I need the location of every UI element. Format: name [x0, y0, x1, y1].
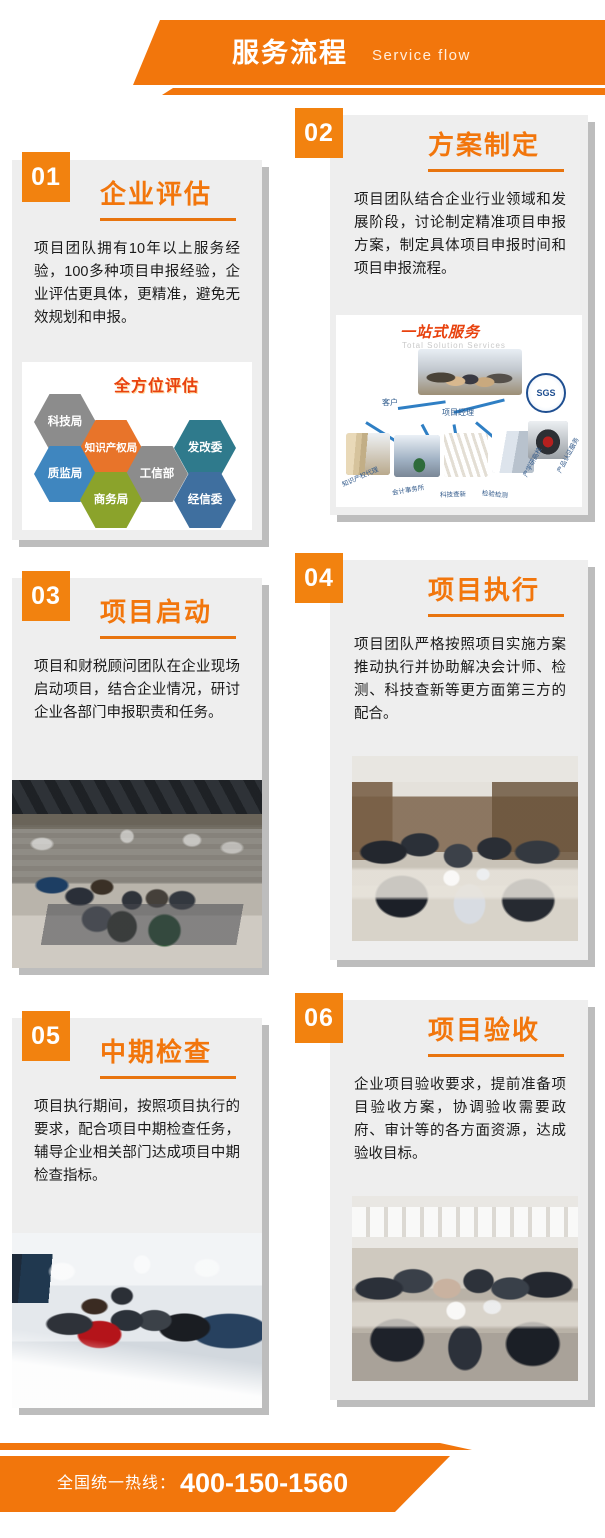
step-body-06: 企业项目验收要求，提前准备项目验收方案，协调验收需要政府、审计等的各方面资源，达… [354, 1074, 566, 1166]
page-title: 服务流程 [232, 34, 348, 72]
title-underline-01 [100, 218, 236, 221]
step-title-03: 项目启动 [100, 596, 212, 628]
title-underline-06 [428, 1054, 564, 1057]
page-subtitle: Service flow [372, 44, 471, 68]
photo-conference-table [352, 756, 578, 941]
step-body-01: 项目团队拥有10年以上服务经验，100多种项目申报经验，企业评估更具体，更精准，… [34, 238, 240, 330]
one-stop-arrow-1 [398, 400, 446, 410]
figure-one-stop-service: 一站式服务 Total Solution Services 客户 项目经理 [336, 315, 582, 507]
step-number-badge-06: 06 [295, 993, 343, 1043]
step-number-badge-05: 05 [22, 1011, 70, 1061]
step-number-badge-04: 04 [295, 553, 343, 603]
one-stop-top-photo [418, 349, 522, 395]
one-stop-certification-seal: SGS [526, 373, 566, 413]
step-card-06: 06 项目验收 企业项目验收要求，提前准备项目验收方案，协调验收需要政府、审计等… [330, 1000, 588, 1400]
step-number-badge-01: 01 [22, 152, 70, 202]
step-body-02: 项目团队结合企业行业领域和发展阶段，讨论制定精准项目申报方案，制定具体项目申报时… [354, 189, 566, 281]
step-title-01: 企业评估 [100, 178, 212, 210]
photo-boardroom [352, 1196, 578, 1381]
header-orange-stripe [0, 88, 605, 95]
step-body-05: 项目执行期间，按照项目执行的要求，配合项目中期检查任务，辅导企业相关部门达成项目… [34, 1096, 240, 1188]
step-card-01: 01 企业评估 项目团队拥有10年以上服务经验，100多种项目申报经验，企业评估… [12, 160, 262, 540]
step-card-03: 03 项目启动 项目和财税顾问团队在企业现场启动项目，结合企业情况，研讨企业各部… [12, 578, 262, 968]
service-flow-infographic: 服务流程 Service flow 01 企业评估 项目团队拥有10年以上服务经… [0, 0, 605, 1538]
one-stop-leg-accounting: 会计事务所 [391, 481, 425, 496]
one-stop-leg-novelty: 科技查新 [440, 488, 466, 499]
page-header: 服务流程 Service flow [0, 0, 605, 100]
photo-meeting-room [12, 780, 262, 968]
step-title-05: 中期检查 [100, 1036, 212, 1068]
title-underline-02 [428, 169, 564, 172]
one-stop-node-customer: 客户 [382, 397, 398, 408]
title-underline-03 [100, 636, 236, 639]
step-number-badge-03: 03 [22, 571, 70, 621]
one-stop-photo-office [394, 435, 440, 477]
one-stop-title: 一站式服务 [400, 321, 480, 342]
step-card-02: 02 方案制定 项目团队结合企业行业领域和发展阶段，讨论制定精准项目申报方案，制… [330, 115, 588, 515]
photo-showroom-visit [12, 1233, 262, 1408]
step-body-03: 项目和财税顾问团队在企业现场启动项目，结合企业情况，研讨企业各部门申报职责和任务… [34, 656, 240, 725]
footer-orange-stripe [0, 1443, 605, 1450]
step-title-04: 项目执行 [428, 574, 540, 606]
one-stop-node-manager: 项目经理 [442, 407, 474, 418]
one-stop-leg-testing: 检验检测 [481, 487, 508, 500]
hotline-label: 全国统一热线： [57, 1473, 176, 1495]
step-card-04: 04 项目执行 项目团队严格按照项目实施方案推动执行并协助解决会计师、检测、科技… [330, 560, 588, 960]
step-body-04: 项目团队严格按照项目实施方案推动执行并协助解决会计师、检测、科技查新等更方面第三… [354, 634, 566, 726]
step-card-05: 05 中期检查 项目执行期间，按照项目执行的要求，配合项目中期检查任务，辅导企业… [12, 1018, 262, 1408]
one-stop-photo-documents [444, 433, 488, 477]
step-title-02: 方案制定 [428, 129, 540, 161]
figure-hexagon-infographic: 全方位评估 科技局 知识产权局 质监局 工信部 商务局 发改委 经信委 [22, 362, 252, 530]
title-underline-05 [100, 1076, 236, 1079]
step-title-06: 项目验收 [428, 1014, 540, 1046]
title-underline-04 [428, 614, 564, 617]
step-number-badge-02: 02 [295, 108, 343, 158]
hexagon-figure-title: 全方位评估 [114, 372, 199, 396]
hotline-number[interactable]: 400-150-1560 [180, 1466, 348, 1500]
